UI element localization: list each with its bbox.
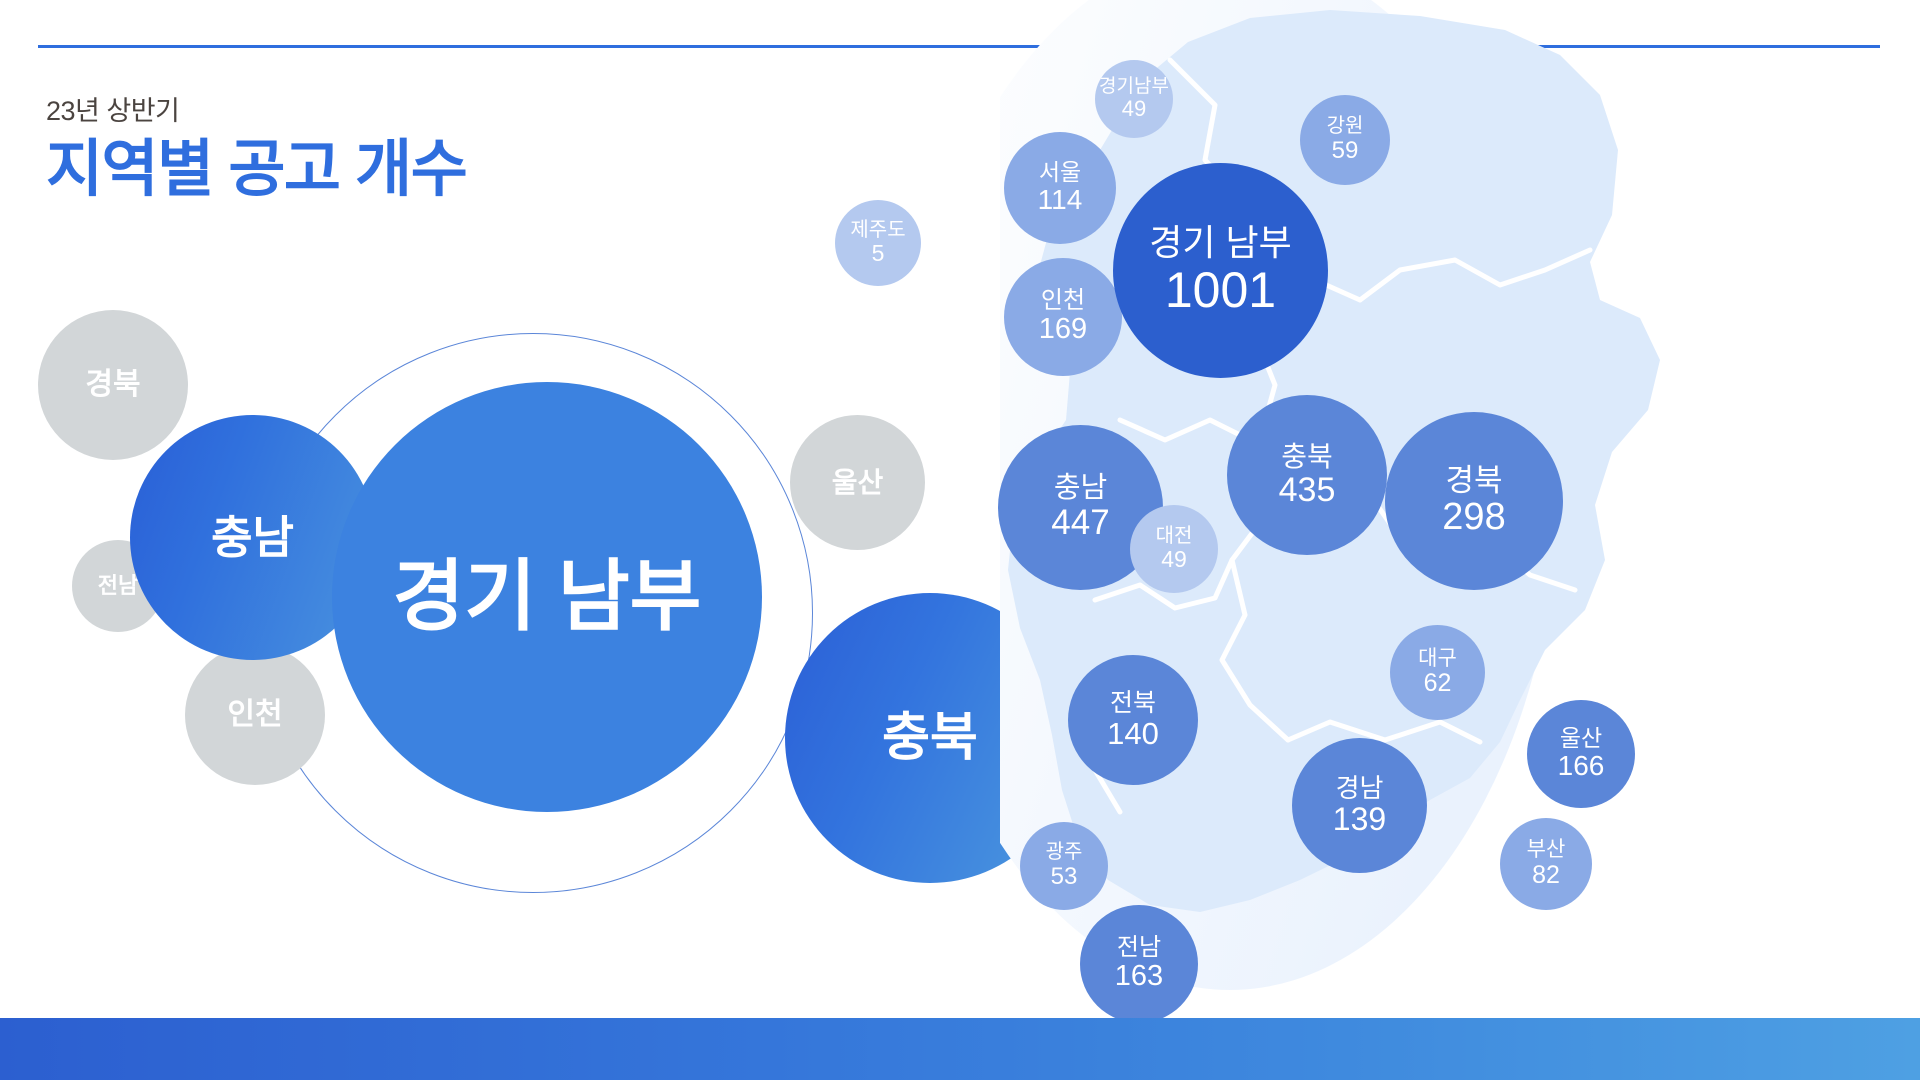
cluster-bubble-label: 충북 [882, 711, 978, 766]
map-region-value: 298 [1442, 497, 1505, 538]
slide-root: 23년 상반기 지역별 공고 개수 경북전남인천울산충남충북경기 남부 [0, 0, 1920, 1080]
map-region-value: 49 [1161, 547, 1187, 572]
map-region-value: 169 [1039, 314, 1087, 345]
map-region-bubble[interactable]: 인천169 [1004, 258, 1122, 376]
map-region-bubble[interactable]: 대전49 [1130, 505, 1218, 593]
cluster-bubble-label: 경기 남부 [393, 556, 702, 638]
map-region-bubble[interactable]: 광주53 [1020, 822, 1108, 910]
map-region-bubble[interactable]: 전북140 [1068, 655, 1198, 785]
map-region-name: 대전 [1156, 526, 1193, 548]
map-region-name: 강원 [1327, 116, 1364, 138]
cluster-bubble-label: 울산 [832, 468, 884, 497]
map-region-value: 139 [1333, 802, 1386, 837]
title-block: 23년 상반기 지역별 공고 개수 [46, 95, 466, 209]
map-region-name: 경기남부 [1099, 77, 1169, 98]
map-region-name: 충남 [1054, 473, 1107, 504]
map-region-name: 경북 [1445, 464, 1502, 497]
map-region-name: 인천 [1041, 288, 1085, 314]
map-region-bubble[interactable]: 부산82 [1500, 818, 1592, 910]
map-region-bubble[interactable]: 경북298 [1385, 412, 1563, 590]
cluster-bubble-label: 경북 [85, 369, 140, 401]
cluster-bubble[interactable]: 인천 [185, 645, 325, 785]
map-region-bubble[interactable]: 울산166 [1527, 700, 1635, 808]
page-title: 지역별 공고 개수 [46, 131, 466, 209]
cluster-bubble[interactable]: 경기 남부 [332, 382, 762, 812]
map-region-value: 166 [1558, 751, 1605, 781]
map-region-bubble[interactable]: 서울114 [1004, 132, 1116, 244]
cluster-bubble-label: 전남 [98, 574, 138, 597]
map-region-bubble[interactable]: 전남163 [1080, 905, 1198, 1023]
map-region-value: 435 [1279, 472, 1336, 509]
map-region-name: 경남 [1336, 774, 1384, 802]
korea-map-panel: 경기남부49강원59서울114제주도5인천169경기 남부1001충북435경북… [1000, 0, 1920, 1030]
map-region-value: 114 [1038, 185, 1083, 215]
map-region-bubble[interactable]: 경남139 [1292, 738, 1427, 873]
map-region-name: 전북 [1110, 690, 1156, 717]
map-region-name: 대구 [1418, 648, 1457, 671]
map-region-name: 서울 [1039, 160, 1081, 185]
footer-bar [0, 1018, 1920, 1080]
cluster-bubble-label: 인천 [227, 699, 282, 731]
map-region-value: 140 [1107, 717, 1159, 750]
map-region-value: 447 [1051, 504, 1109, 542]
map-region-value: 1001 [1165, 263, 1276, 317]
map-region-bubble[interactable]: 제주도5 [835, 200, 921, 286]
cluster-bubble-label: 충남 [211, 514, 294, 561]
map-region-value: 49 [1122, 97, 1146, 121]
map-region-value: 53 [1051, 864, 1078, 890]
map-region-value: 163 [1115, 961, 1163, 992]
map-region-value: 59 [1332, 138, 1359, 164]
cluster-bubble[interactable]: 울산 [790, 415, 925, 550]
map-region-name: 광주 [1046, 842, 1083, 864]
cluster-bubble[interactable]: 경북 [38, 310, 188, 460]
map-region-name: 전남 [1117, 935, 1161, 961]
map-region-name: 경기 남부 [1149, 224, 1291, 263]
map-region-bubble[interactable]: 대구62 [1390, 625, 1485, 720]
map-region-bubble[interactable]: 강원59 [1300, 95, 1390, 185]
map-region-bubble[interactable]: 경기 남부1001 [1113, 163, 1328, 378]
map-region-value: 5 [872, 241, 885, 266]
map-region-name: 제주도 [850, 220, 905, 242]
map-region-bubble[interactable]: 충북435 [1227, 395, 1387, 555]
map-region-name: 부산 [1527, 839, 1566, 862]
map-region-value: 62 [1424, 670, 1452, 697]
slide-subtitle: 23년 상반기 [46, 95, 466, 127]
map-region-name: 충북 [1281, 442, 1333, 472]
map-region-value: 82 [1532, 862, 1560, 889]
map-region-bubble[interactable]: 경기남부49 [1095, 60, 1173, 138]
bubble-cluster: 경북전남인천울산충남충북경기 남부 [0, 250, 1120, 1010]
map-region-name: 울산 [1560, 726, 1602, 751]
